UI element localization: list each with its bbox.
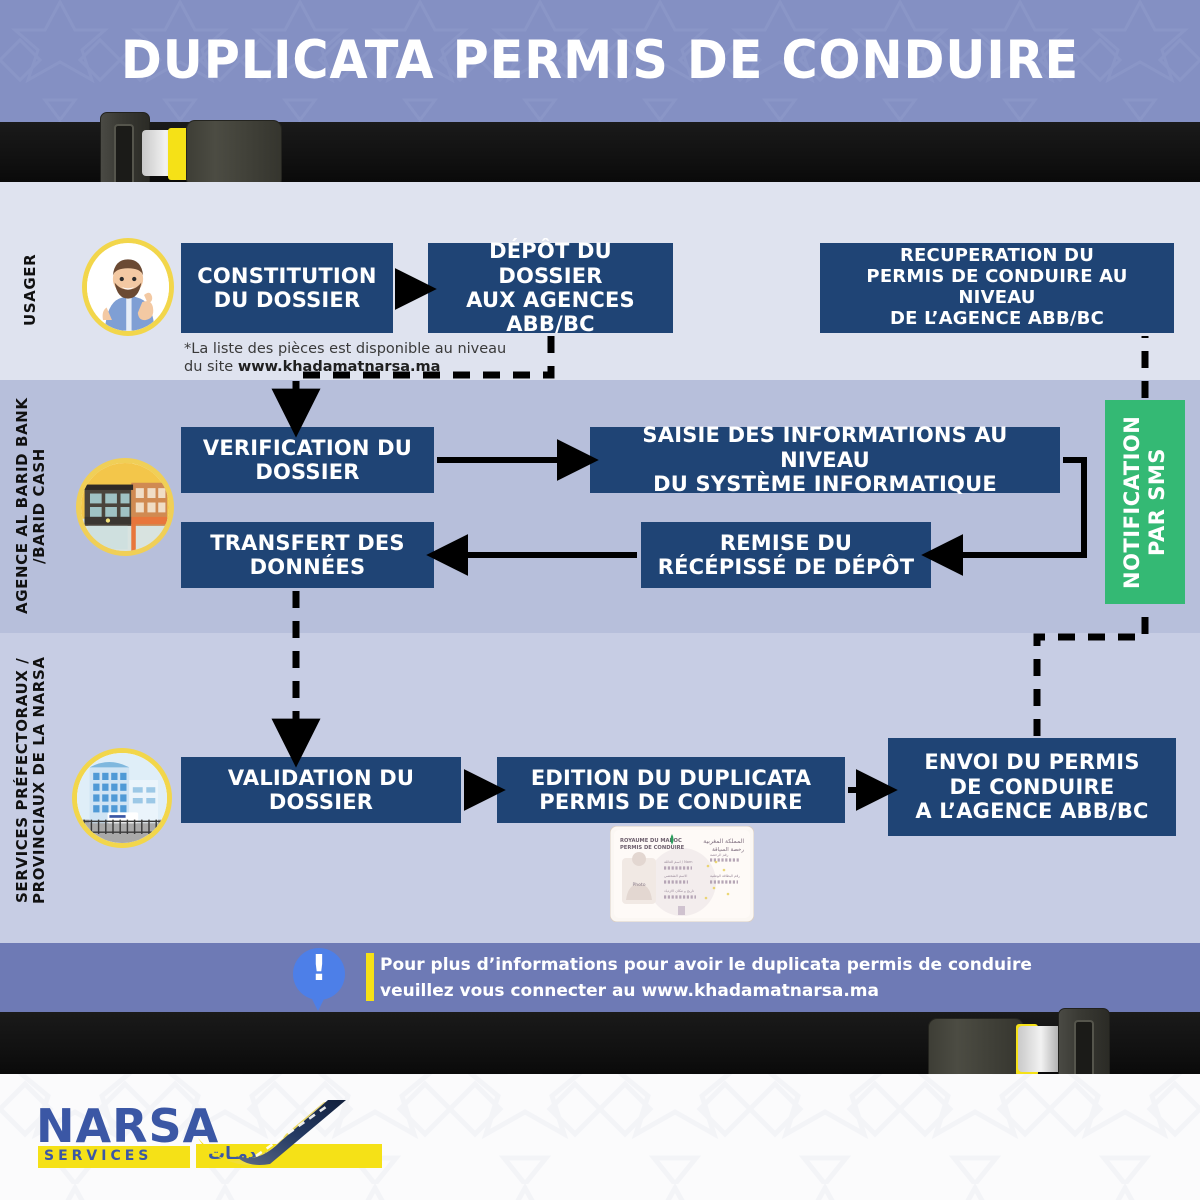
pieces-list-note: *La liste des pièces est disponible au n… — [184, 340, 544, 376]
narsa-road-swoosh-icon — [196, 1098, 346, 1166]
footer-info-text: Pour plus d’informations pour avoir le d… — [380, 952, 1140, 1005]
page-title: DUPLICATA PERMIS DE CONDUIRE — [42, 30, 1158, 91]
header-band: DUPLICATA PERMIS DE CONDUIRE — [0, 0, 1200, 122]
step-envoi-permis[interactable]: ENVOI DU PERMIS DE CONDUIRE A L’AGENCE A… — [888, 738, 1176, 836]
svg-text:رقم الرخصة: رقم الرخصة — [710, 853, 729, 857]
svg-text:تاريخ و مكان الازدياد: تاريخ و مكان الازدياد — [664, 889, 694, 893]
step-saisie-informations[interactable]: SAISIE DES INFORMATIONS AU NIVEAU DU SYS… — [590, 427, 1060, 493]
note-line-1: *La liste des pièces est disponible au n… — [184, 341, 506, 357]
step-remise-recepisse[interactable]: REMISE DU RÉCÉPISSÉ DE DÉPÔT — [641, 522, 931, 588]
step-validation-dossier[interactable]: VALIDATION DU DOSSIER — [181, 757, 461, 823]
bank-branch-avatar — [76, 458, 174, 556]
svg-text:الاسم الشخصي: الاسم الشخصي — [664, 874, 687, 878]
note-url: www.khadamatnarsa.ma — [238, 359, 441, 375]
svg-text:اسم العائلة / Nom: اسم العائلة / Nom — [664, 860, 693, 864]
lane-agence — [0, 380, 1200, 633]
step-notification-sms[interactable]: NOTIFICATION PAR SMS — [1105, 400, 1185, 604]
step-transfert-donnees[interactable]: TRANSFERT DES DONNÉES — [181, 522, 434, 588]
user-avatar — [82, 238, 174, 336]
user-avatar-art — [87, 243, 169, 331]
note-line-2-prefix: du site — [184, 359, 238, 375]
svg-text:المملكة المغربية: المملكة المغربية — [703, 838, 744, 845]
lane-label-narsa: SERVICES PRÉFECTORAUX / PROVINCIAUX DE L… — [14, 655, 54, 905]
logo-services-text: SERVICES — [44, 1148, 152, 1164]
svg-text:PERMIS DE CONDUIRE: PERMIS DE CONDUIRE — [620, 845, 685, 851]
step-recuperation-permis[interactable]: RECUPERATION DU PERMIS DE CONDUIRE AU NI… — [820, 243, 1174, 333]
step-verification-dossier[interactable]: VERIFICATION DU DOSSIER — [181, 427, 434, 493]
narsa-building-avatar — [72, 748, 172, 848]
logo-narsa-wordmark: NARSA — [36, 1099, 219, 1153]
svg-text:Photo: Photo — [632, 882, 645, 888]
footer-accent-bar — [366, 953, 374, 1001]
footer-line-1: Pour plus d’informations pour avoir le d… — [380, 955, 1032, 975]
permis-card-illustration: ROYAUME DU MAROC PERMIS DE CONDUIRE المم… — [610, 826, 754, 922]
lane-label-agence: AGENCE AL BARID BANK /BARID CASH — [14, 396, 54, 616]
narsa-building-art — [77, 753, 167, 843]
infographic-canvas: DUPLICATA PERMIS DE CONDUIRE USAGER CONS… — [0, 0, 1200, 1200]
footer-line-2: veuillez vous connecter au www.khadamatn… — [380, 981, 879, 1001]
exclamation-mark-glyph: ! — [293, 951, 345, 987]
step-constitution-dossier[interactable]: CONSTITUTION DU DOSSIER — [181, 243, 393, 333]
step-depot-dossier[interactable]: DÉPÔT DU DOSSIER AUX AGENCES ABB/BC — [428, 243, 673, 333]
svg-text:رقم البطاقة الوطنية: رقم البطاقة الوطنية — [710, 874, 740, 878]
step-edition-duplicata[interactable]: EDITION DU DUPLICATA PERMIS DE CONDUIRE — [497, 757, 845, 823]
bank-branch-art — [81, 463, 169, 551]
lane-label-usager: USAGER — [22, 240, 44, 340]
